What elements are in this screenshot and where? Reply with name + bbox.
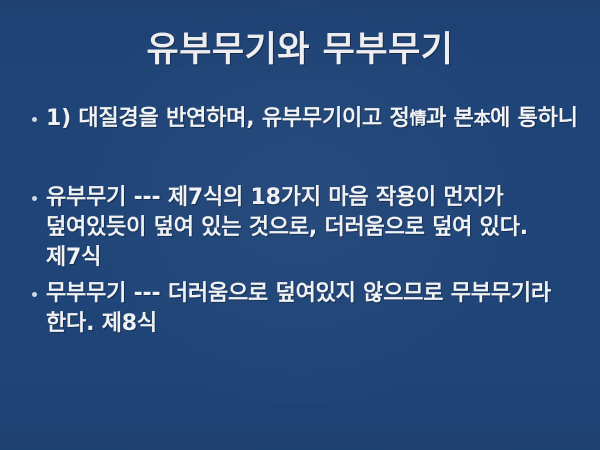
bullet-dot-icon [26, 104, 46, 122]
slide-body: 1) 대질경을 반연하며, 유부무기이고 정情과 본本에 통하니 유부무기 --… [26, 104, 584, 339]
presentation-slide: 유부무기와 무부무기 1) 대질경을 반연하며, 유부무기이고 정情과 본本에 … [0, 0, 600, 450]
bullet-1-segment-b: 과 본 [426, 106, 474, 131]
slide-title-area: 유부무기와 무부무기 [0, 28, 600, 72]
bullet-1-segment-c: 에 통하니 [490, 106, 578, 131]
bullet-1-segment-a: 1) 대질경을 반연하며, 유부무기이고 정 [46, 106, 410, 131]
page-title: 유부무기와 무부무기 [147, 28, 454, 72]
bullet-1-hanja-bon: 本 [474, 109, 491, 129]
bullet-item-2: 유부무기 --- 제7식의 18가지 마음 작용이 먼지가 덮여있듯이 덮여 있… [26, 183, 584, 273]
bullet-text-3: 무부무기 --- 더러움으로 덮여있지 않으므로 무부무기라 한다. 제8식 [46, 279, 584, 339]
bullet-dot-icon [26, 279, 46, 297]
bullet-text-2: 유부무기 --- 제7식의 18가지 마음 작용이 먼지가 덮여있듯이 덮여 있… [46, 183, 584, 273]
bullet-1-hanja-jeong: 情 [410, 109, 427, 129]
bullet-item-1: 1) 대질경을 반연하며, 유부무기이고 정情과 본本에 통하니 [26, 104, 584, 134]
bullet-dot-icon [26, 183, 46, 201]
bullet-text-1: 1) 대질경을 반연하며, 유부무기이고 정情과 본本에 통하니 [46, 104, 584, 134]
bullet-item-3: 무부무기 --- 더러움으로 덮여있지 않으므로 무부무기라 한다. 제8식 [26, 279, 584, 339]
empty-paragraph-spacer [26, 134, 584, 183]
